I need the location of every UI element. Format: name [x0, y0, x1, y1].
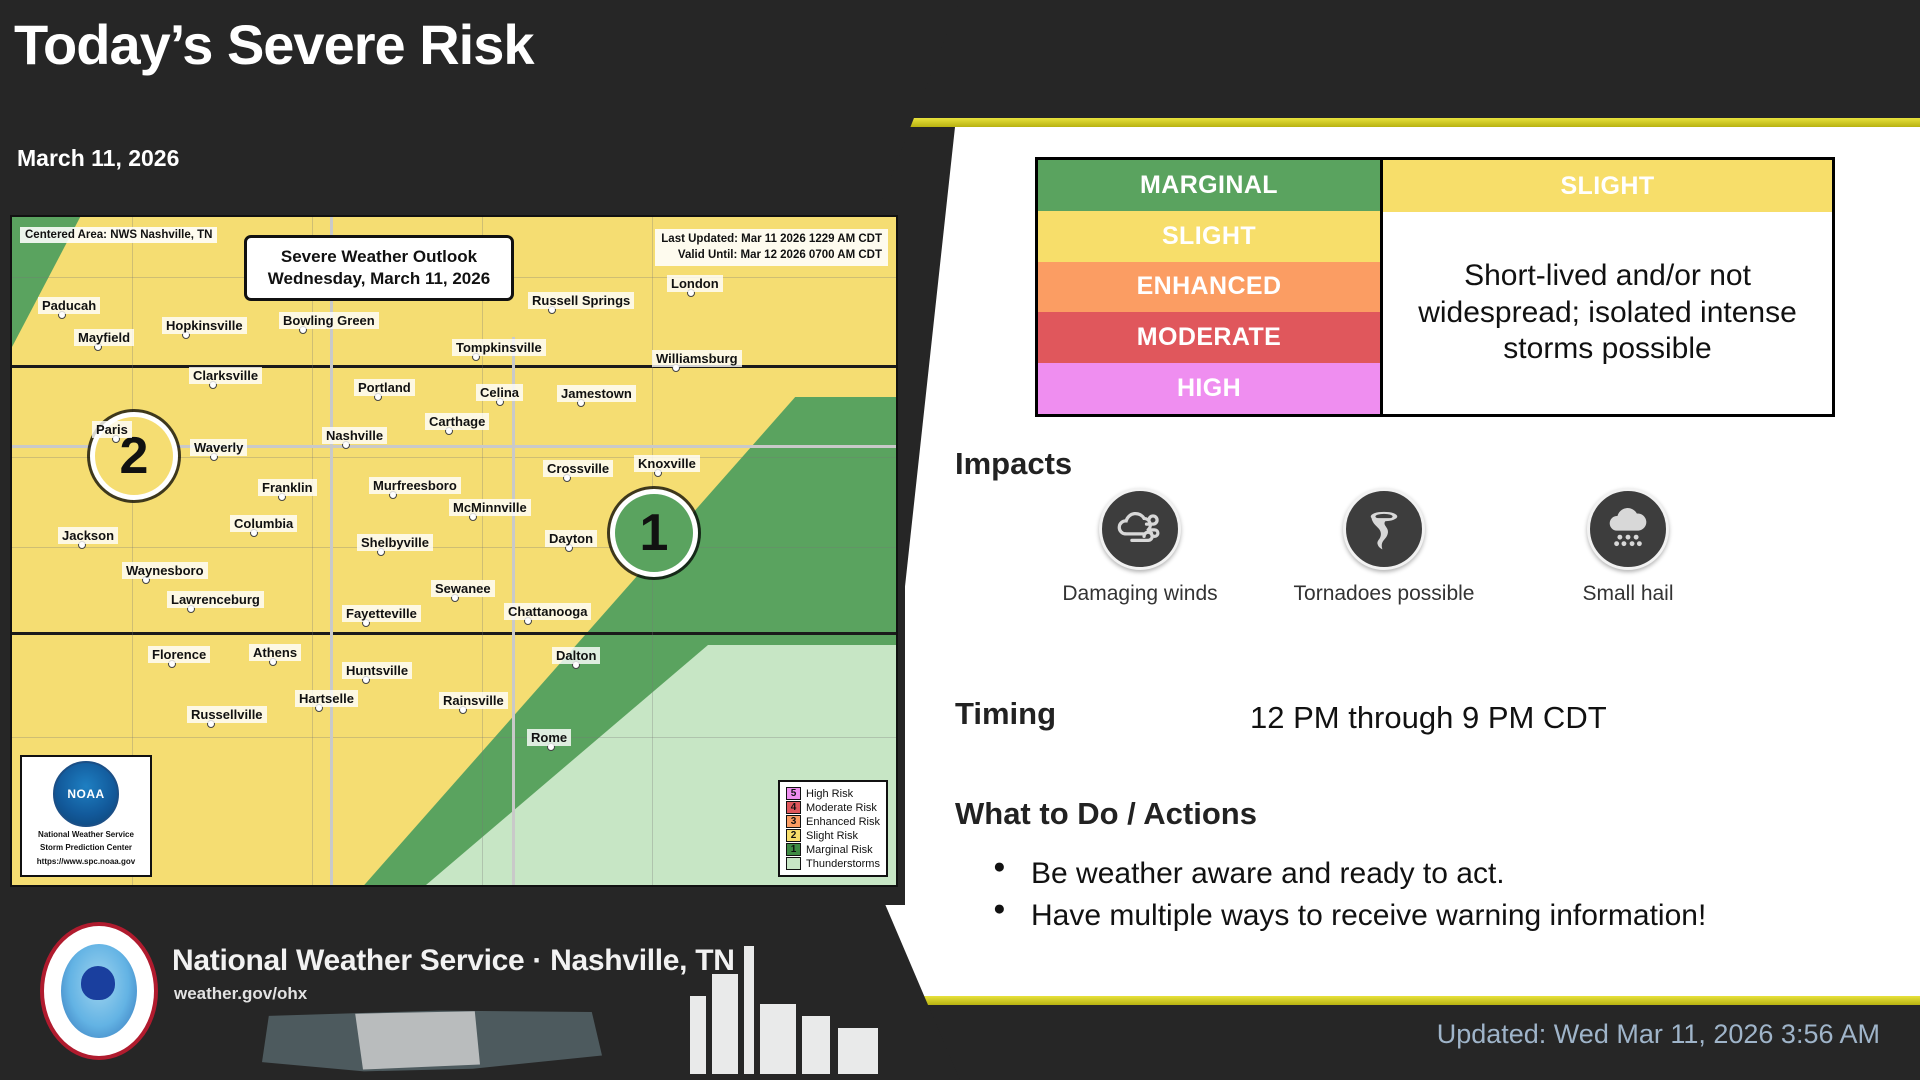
- legend-swatch: 1: [786, 843, 801, 856]
- legend-label: Marginal Risk: [806, 844, 873, 856]
- footer-office-name: National Weather Service · Nashville, TN: [172, 944, 735, 978]
- city-label: Crossville: [543, 460, 613, 477]
- city-label: London: [667, 275, 723, 292]
- noaa-logo-icon: NOAA: [53, 761, 119, 827]
- footer-accent-rule: [860, 996, 1920, 1005]
- county-line: [12, 547, 898, 548]
- outlook-map-frame: Centered Area: NWS Nashville, TN Severe …: [0, 205, 905, 905]
- selected-risk-label: SLIGHT: [1383, 160, 1832, 212]
- city-label: Knoxville: [634, 455, 700, 472]
- risk-level-high: HIGH: [1038, 363, 1380, 414]
- impact-label: Damaging winds: [1062, 582, 1217, 606]
- actions-heading: What to Do / Actions: [955, 796, 1257, 832]
- risk-level-slight: SLIGHT: [1038, 211, 1380, 262]
- map-risk-legend: 5High Risk4Moderate Risk3Enhanced Risk2S…: [778, 780, 888, 877]
- spc-agency-line2: Storm Prediction Center: [40, 843, 132, 853]
- skyline-building: [760, 1004, 796, 1074]
- city-label: Fayetteville: [342, 605, 421, 622]
- city-label: Tompkinsville: [452, 339, 546, 356]
- city-label: Jamestown: [557, 385, 636, 402]
- city-label: Russell Springs: [528, 292, 634, 309]
- timing-heading: Timing: [955, 696, 1056, 732]
- city-label: Portland: [354, 379, 415, 396]
- selected-risk-description: Short-lived and/or not widespread; isola…: [1383, 212, 1832, 414]
- city-label: Waverly: [190, 439, 247, 456]
- map-centered-area-label: Centered Area: NWS Nashville, TN: [20, 227, 217, 243]
- map-title-line1: Severe Weather Outlook: [253, 246, 505, 268]
- city-label: Paducah: [38, 297, 100, 314]
- footer-banner: National Weather Service · Nashville, TN…: [0, 904, 960, 1080]
- city-label: Hopkinsville: [162, 317, 247, 334]
- city-label: Rome: [527, 729, 571, 746]
- city-label: Rainsville: [439, 692, 508, 709]
- city-label: Russellville: [187, 706, 267, 723]
- action-item: Be weather aware and ready to act.: [985, 855, 1805, 893]
- city-label: Nashville: [322, 427, 387, 444]
- actions-list: Be weather aware and ready to act.Have m…: [985, 855, 1805, 940]
- outlook-map[interactable]: Centered Area: NWS Nashville, TN Severe …: [10, 215, 898, 887]
- legend-label: Thunderstorms: [806, 858, 880, 870]
- city-label: Hartselle: [295, 690, 358, 707]
- wind-cloud-icon: [1099, 488, 1181, 570]
- legend-swatch: 2: [786, 829, 801, 842]
- risk-level-column: MARGINALSLIGHTENHANCEDMODERATEHIGH: [1038, 160, 1383, 414]
- footer-website-url: weather.gov/ohx: [174, 984, 307, 1004]
- legend-row: 1Marginal Risk: [786, 843, 880, 856]
- risk-level-marginal: MARGINAL: [1038, 160, 1380, 211]
- city-label: Columbia: [230, 515, 297, 532]
- legend-swatch: 5: [786, 787, 801, 800]
- skyline-building: [802, 1016, 830, 1074]
- legend-row: 4Moderate Risk: [786, 801, 880, 814]
- city-label: Celina: [476, 384, 523, 401]
- map-valid-until: Valid Until: Mar 12 2026 0700 AM CDT: [661, 248, 882, 264]
- legend-swatch: [786, 857, 801, 870]
- skyline-building: [690, 996, 706, 1074]
- header-accent-rule: [955, 118, 1920, 127]
- legend-row: Thunderstorms: [786, 857, 880, 870]
- state-border-ky-tn: [12, 365, 896, 368]
- city-label: Dalton: [552, 647, 600, 664]
- skyline-building: [838, 1028, 878, 1074]
- spc-agency-line1: National Weather Service: [38, 830, 134, 840]
- map-timestamp-box: Last Updated: Mar 11 2026 1229 AM CDT Va…: [655, 229, 888, 266]
- nws-seal-icon: [40, 922, 158, 1060]
- impact-label: Tornadoes possible: [1294, 582, 1475, 606]
- map-risk-marker-1: 1: [610, 489, 698, 577]
- legend-label: Slight Risk: [806, 830, 858, 842]
- legend-swatch: 4: [786, 801, 801, 814]
- city-label: Sewanee: [431, 580, 495, 597]
- map-title-line2: Wednesday, March 11, 2026: [253, 268, 505, 290]
- header-accent-rule-diagonal: [902, 118, 985, 127]
- action-item: Have multiple ways to receive warning in…: [985, 897, 1805, 935]
- map-title-box: Severe Weather Outlook Wednesday, March …: [244, 235, 514, 301]
- legend-label: High Risk: [806, 788, 853, 800]
- city-label: Jackson: [58, 527, 118, 544]
- city-label: Lawrenceburg: [167, 591, 264, 608]
- legend-row: 3Enhanced Risk: [786, 815, 880, 828]
- city-label: Huntsville: [342, 662, 412, 679]
- map-last-updated: Last Updated: Mar 11 2026 1229 AM CDT: [661, 232, 882, 248]
- city-label: Dayton: [545, 530, 597, 547]
- county-line: [12, 737, 898, 738]
- city-label: Waynesboro: [122, 562, 208, 579]
- state-border-tn-al: [12, 632, 896, 635]
- county-line: [482, 217, 483, 887]
- tennessee-cwa-highlight: [350, 1010, 480, 1072]
- city-label: Clarksville: [189, 367, 262, 384]
- city-label: Murfreesboro: [369, 477, 461, 494]
- header-banner: Today’s Severe Risk March 11, 2026: [0, 0, 960, 205]
- city-label: Florence: [148, 646, 210, 663]
- city-label: Bowling Green: [279, 312, 379, 329]
- page-date: March 11, 2026: [17, 145, 179, 172]
- legend-row: 2Slight Risk: [786, 829, 880, 842]
- timing-value: 12 PM through 9 PM CDT: [1250, 700, 1607, 736]
- legend-row: 5High Risk: [786, 787, 880, 800]
- city-label: McMinnville: [449, 499, 531, 516]
- skyline-building: [712, 974, 738, 1074]
- impact-item-2: Small hail: [1548, 488, 1708, 606]
- city-label: Athens: [249, 644, 301, 661]
- risk-level-enhanced: ENHANCED: [1038, 262, 1380, 313]
- impacts-icon-row: Damaging windsTornadoes possibleSmall ha…: [1060, 488, 1790, 606]
- legend-label: Enhanced Risk: [806, 816, 880, 828]
- impact-label: Small hail: [1582, 582, 1673, 606]
- city-label: Paris: [92, 421, 132, 438]
- page-title: Today’s Severe Risk: [14, 16, 534, 75]
- impacts-heading: Impacts: [955, 446, 1072, 482]
- spc-agency-url: https://www.spc.noaa.gov: [37, 857, 135, 867]
- city-label: Carthage: [425, 413, 489, 430]
- city-label: Chattanooga: [504, 603, 591, 620]
- impact-item-1: Tornadoes possible: [1304, 488, 1464, 606]
- nws-seal-inner-graphic: [61, 944, 137, 1038]
- risk-description-column: SLIGHT Short-lived and/or not widespread…: [1383, 160, 1832, 414]
- legend-swatch: 3: [786, 815, 801, 828]
- skyline-building: [744, 946, 754, 1074]
- city-label: Shelbyville: [357, 534, 433, 551]
- risk-category-table: MARGINALSLIGHTENHANCEDMODERATEHIGH SLIGH…: [1035, 157, 1835, 417]
- hail-cloud-icon: [1587, 488, 1669, 570]
- spc-logo-box: NOAA National Weather Service Storm Pred…: [20, 755, 152, 877]
- city-label: Mayfield: [74, 329, 134, 346]
- impact-item-0: Damaging winds: [1060, 488, 1220, 606]
- city-label: Franklin: [258, 479, 317, 496]
- updated-timestamp: Updated: Wed Mar 11, 2026 3:56 AM: [1437, 1019, 1880, 1050]
- tornado-icon: [1343, 488, 1425, 570]
- risk-level-moderate: MODERATE: [1038, 312, 1380, 363]
- legend-label: Moderate Risk: [806, 802, 877, 814]
- city-label: Williamsburg: [652, 350, 742, 367]
